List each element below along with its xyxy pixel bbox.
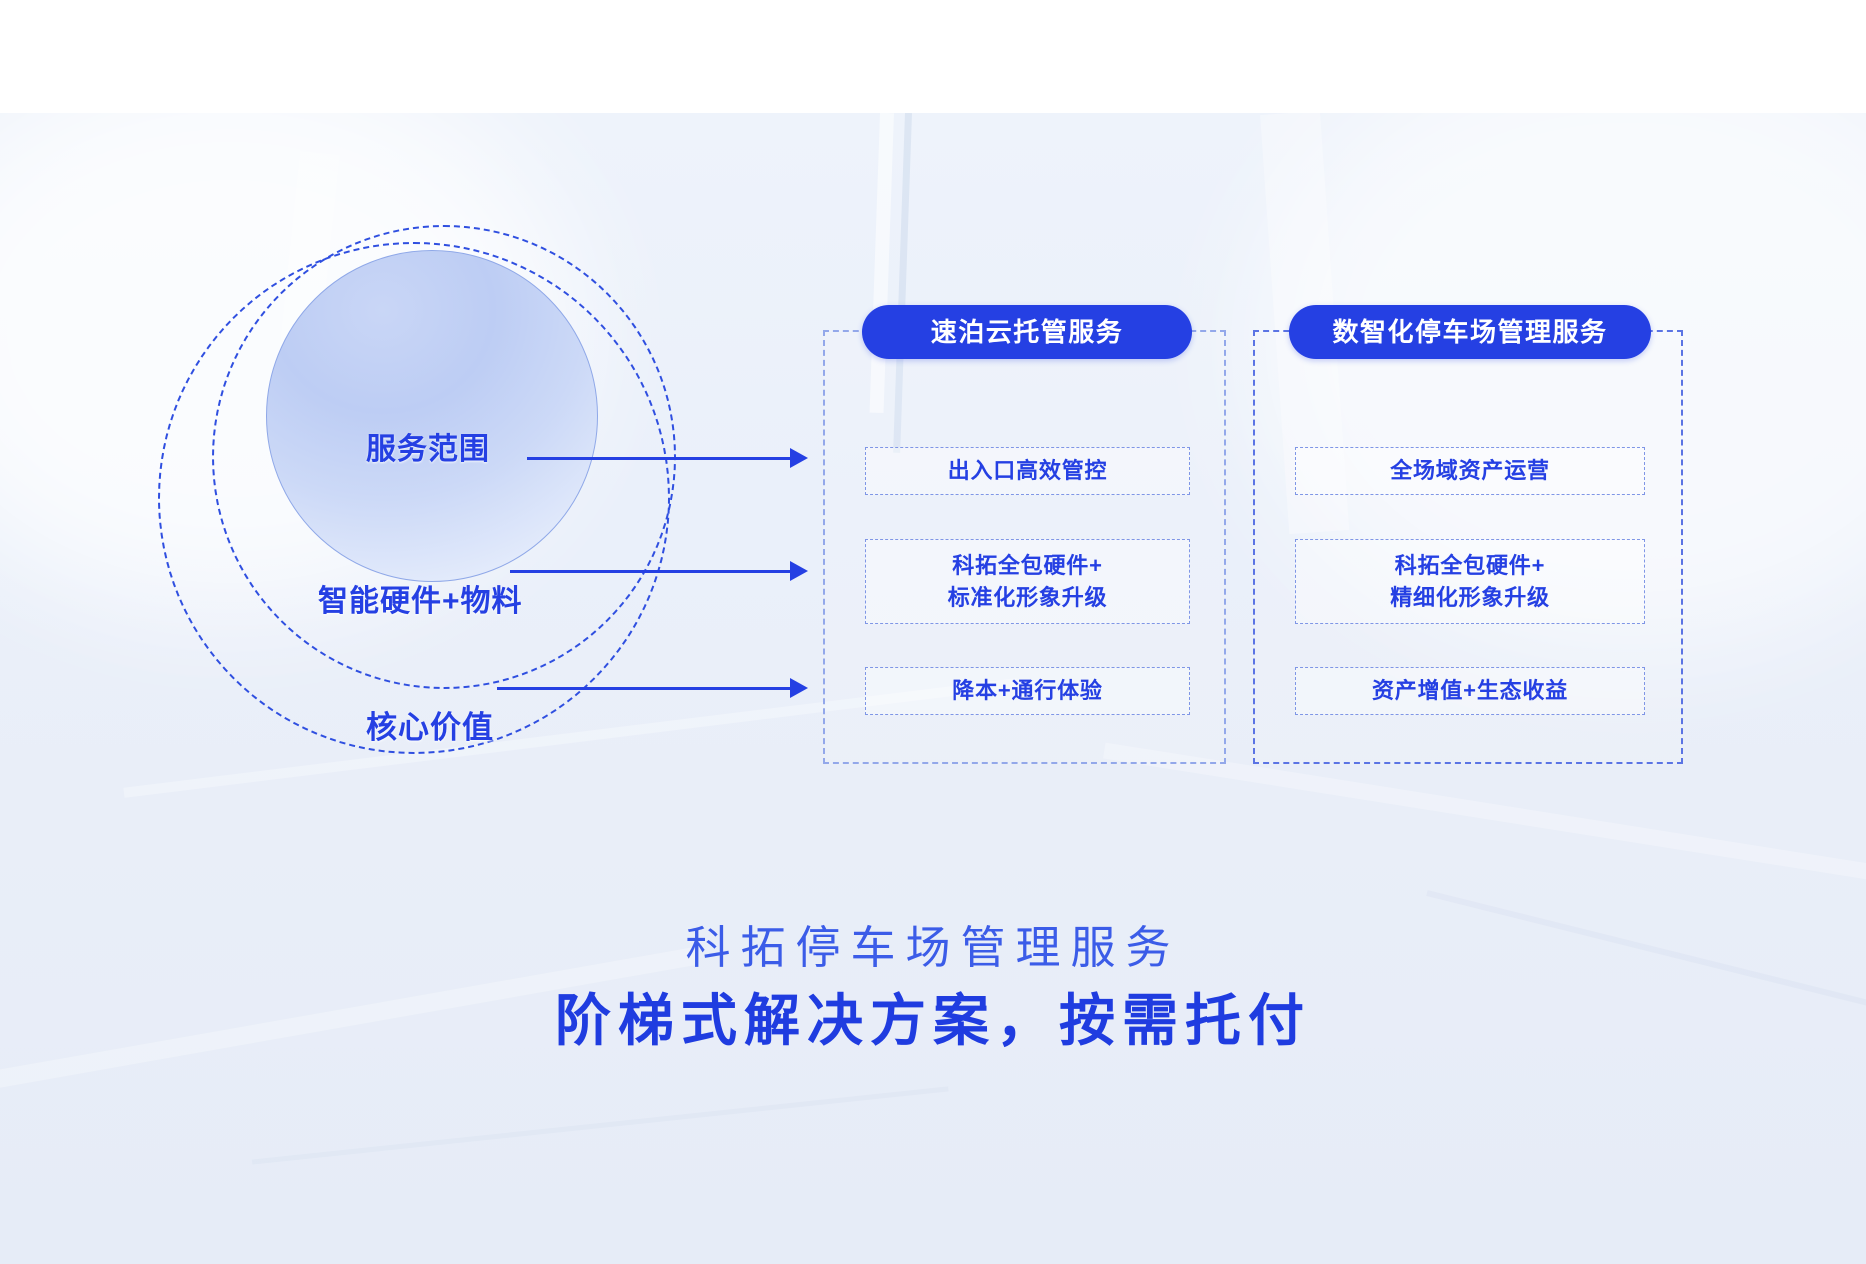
arrow-scope-to-panel: [527, 448, 808, 468]
arrow-value-to-panel: [497, 678, 808, 698]
panel-badge-suboyun[interactable]: 速泊云托管服务: [862, 305, 1192, 359]
inner-gradient-circle: [266, 250, 598, 582]
arrow-hardware-to-panel: [510, 561, 808, 581]
slide-canvas: 服务范围 智能硬件+物料 核心价值 速泊云托管服务 出入口高效管控 科拓全包硬件…: [0, 0, 1866, 1264]
panel-item[interactable]: 全场域资产运营: [1295, 447, 1645, 495]
background-streak-6: [1103, 743, 1866, 900]
panel-item-line: 精细化形象升级: [1390, 582, 1550, 613]
panel-shuzhihua[interactable]: 数智化停车场管理服务 全场域资产运营 科拓全包硬件+ 精细化形象升级 资产增值+…: [1253, 330, 1683, 764]
panel-item[interactable]: 出入口高效管控: [865, 447, 1190, 495]
circle-label-hardware: 智能硬件+物料: [318, 576, 523, 620]
panel-item-line: 出入口高效管控: [948, 455, 1108, 486]
panel-item-line: 资产增值+生态收益: [1372, 675, 1568, 706]
panel-item[interactable]: 降本+通行体验: [865, 667, 1190, 715]
circle-label-core-value: 核心价值: [366, 702, 494, 747]
panel-item-line: 科拓全包硬件+: [1395, 550, 1545, 581]
arrow-head-icon: [790, 678, 808, 698]
arrow-shaft: [527, 457, 790, 460]
arrow-shaft: [510, 570, 790, 573]
panel-suboyun[interactable]: 速泊云托管服务 出入口高效管控 科拓全包硬件+ 标准化形象升级 降本+通行体验: [823, 330, 1226, 764]
panel-badge-shuzhihua[interactable]: 数智化停车场管理服务: [1289, 305, 1651, 359]
headline-subtitle: 科拓停车场管理服务: [0, 918, 1866, 979]
background-streak-9: [252, 1086, 949, 1164]
panel-item[interactable]: 科拓全包硬件+ 标准化形象升级: [865, 539, 1190, 624]
arrow-head-icon: [790, 561, 808, 581]
headline-block: 科拓停车场管理服务 阶梯式解决方案，按需托付: [0, 918, 1866, 1058]
headline-title: 阶梯式解决方案，按需托付: [0, 983, 1866, 1059]
circle-label-scope: 服务范围: [366, 424, 490, 468]
panel-item-line: 科拓全包硬件+: [952, 550, 1102, 581]
service-circles-graphic: [140, 230, 760, 750]
top-white-band: [0, 0, 1866, 113]
panel-item-line: 标准化形象升级: [948, 582, 1108, 613]
arrow-shaft: [497, 687, 790, 690]
panel-item[interactable]: 科拓全包硬件+ 精细化形象升级: [1295, 539, 1645, 624]
panel-item[interactable]: 资产增值+生态收益: [1295, 667, 1645, 715]
arrow-head-icon: [790, 448, 808, 468]
panel-item-line: 降本+通行体验: [952, 675, 1102, 706]
panel-item-line: 全场域资产运营: [1390, 455, 1550, 486]
